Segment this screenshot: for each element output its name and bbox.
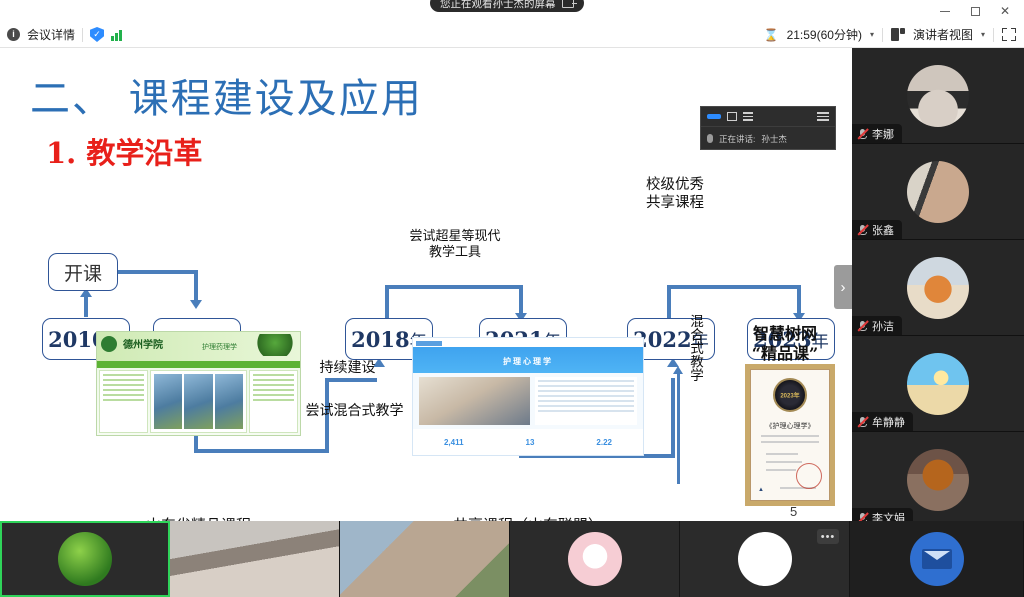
- participant-tile-linan[interactable]: 李娜: [852, 48, 1024, 144]
- annotation-blended-vertical: 混合式教学: [684, 314, 704, 382]
- platform-cover-photo: [419, 377, 530, 425]
- page-subtitle: 1. 教学沿革: [46, 130, 202, 172]
- certificate-line-1: [761, 435, 819, 437]
- connector-kaike-right: [118, 270, 198, 274]
- site-nav-bar: [97, 361, 300, 368]
- filmstrip-tile-avatar-2[interactable]: •••: [680, 521, 850, 597]
- avatar: [568, 532, 622, 586]
- site-photo-3: [215, 374, 244, 429]
- participant-video-rail[interactable]: 李娜 张鑫 孙洁: [852, 48, 1024, 521]
- floating-panel-top-row: [701, 107, 835, 126]
- certificate-line-2: [761, 441, 819, 443]
- close-button[interactable]: ✕: [990, 0, 1020, 22]
- site-logo-icon: [101, 336, 117, 352]
- site-photo-2: [184, 374, 213, 429]
- participant-name-badge: 张鑫: [852, 220, 902, 239]
- connector-blended-vertical: [677, 374, 680, 484]
- microphone-muted-icon: [857, 320, 868, 332]
- filmstrip-tile-video-2[interactable]: [340, 521, 510, 597]
- annotation-continuous-build-text: 持续建设: [320, 360, 376, 376]
- certificate-seal-icon: 2023年: [773, 378, 807, 412]
- annotation-zhihuishu-line2: “精品课”: [752, 344, 818, 363]
- toolbar-divider: [82, 28, 83, 42]
- certificate-line-5: [766, 469, 796, 471]
- microphone-icon: [707, 134, 713, 143]
- platform-course-info: [535, 377, 637, 425]
- screen-share-tooltip-text: 您正在观看孙士杰的屏幕: [440, 0, 556, 11]
- avatar: [907, 449, 969, 511]
- connector-2022-up: [671, 378, 675, 458]
- platform-stats: 2,411 13 2.22: [413, 429, 643, 455]
- speaking-name: 孙士杰: [761, 133, 787, 145]
- connector-2022-upbracket: [667, 285, 671, 321]
- share-screen-icon: [562, 0, 574, 8]
- site-photo-1: [154, 374, 183, 429]
- image-zhihuishu-certificate: 2023年 《护理心理学》 ▲: [745, 364, 835, 506]
- platform-banner-title: 护理心理学: [503, 356, 553, 367]
- certificate-course-name: 《护理心理学》: [750, 421, 830, 431]
- toolbar-left-group: i 会议详情 ✓: [0, 26, 122, 43]
- filmstrip-tile-sharing[interactable]: [0, 521, 170, 597]
- site-subtitle: 护理药理学: [202, 342, 237, 352]
- site-left-column: [99, 370, 148, 433]
- participant-name: 牟静静: [872, 414, 905, 430]
- annotation-tool-trial-line2: 教学工具: [429, 245, 481, 260]
- platform-stat-3: 2.22: [596, 438, 612, 447]
- node-2018-year: 2018: [351, 327, 409, 352]
- network-signal-icon[interactable]: [111, 29, 122, 41]
- zoom-meeting-window: 您正在观看孙士杰的屏幕 ✕ i 会议详情 ✓ ⌛ 21:59(60分钟) ▾ 演…: [0, 0, 1024, 597]
- speaking-label: 正在讲话:: [719, 133, 755, 145]
- participant-tile-sunjie[interactable]: 孙洁: [852, 240, 1024, 336]
- participant-name: 孙洁: [872, 318, 894, 334]
- more-options-icon[interactable]: •••: [817, 529, 839, 544]
- meeting-info-label[interactable]: 会议详情: [27, 26, 75, 43]
- connector-2010-up: [84, 295, 88, 317]
- participant-name-badge: 牟静静: [852, 412, 913, 431]
- page-title: 二、 课程建设及应用: [30, 66, 423, 124]
- maximize-button[interactable]: [960, 0, 990, 22]
- floating-panel-speaking-row: 正在讲话: 孙士杰: [701, 126, 835, 150]
- certificate-seal-text: 2023年: [780, 391, 799, 400]
- site-photo-column: [150, 370, 248, 433]
- annotation-blended-try-text: 尝试混合式教学: [306, 403, 404, 419]
- fullscreen-icon[interactable]: [1002, 28, 1016, 41]
- connector-to-2018-right: [325, 378, 377, 382]
- participant-name-badge: 李娜: [852, 124, 902, 143]
- floating-share-panel[interactable]: 正在讲话: 孙士杰: [700, 106, 836, 150]
- avatar: [907, 65, 969, 127]
- microphone-muted-icon: [857, 416, 868, 428]
- connector-kaike-down: [194, 270, 198, 302]
- participant-name: 张鑫: [872, 222, 894, 238]
- avatar: [907, 257, 969, 319]
- screen-share-tooltip: 您正在观看孙士杰的屏幕: [430, 0, 584, 12]
- collapse-glyph: ›: [841, 279, 846, 296]
- annotation-school-award: 校级优秀 共享课程: [615, 176, 735, 212]
- view-mode-label[interactable]: 演讲者视图: [913, 26, 973, 43]
- connector-blended-right: [194, 449, 329, 453]
- tree-decoration-icon: [254, 334, 296, 356]
- toolbar-divider-2: [882, 28, 883, 42]
- certificate-line-4: [766, 461, 802, 463]
- shared-screen-stage: 二、 课程建设及应用 1. 教学沿革: [0, 48, 852, 521]
- annotation-school-award-line2: 共享课程: [646, 195, 704, 211]
- platform-stat-1: 2,411: [444, 438, 464, 447]
- annotation-continuous-build: 持续建设: [300, 360, 395, 378]
- video-feed: [340, 521, 509, 597]
- panel-menu-icon[interactable]: [817, 112, 829, 121]
- platform-stat-2: 13: [526, 438, 535, 447]
- meeting-timer: 21:59(60分钟): [787, 26, 862, 43]
- arrowhead-2012-down: [190, 300, 202, 309]
- view-chevron-down-icon[interactable]: ▾: [981, 30, 985, 39]
- speaker-view-icon[interactable]: [891, 28, 905, 41]
- participant-tile-moujingjing[interactable]: 牟静静: [852, 336, 1024, 432]
- site-title: 德州学院: [123, 336, 163, 351]
- toolbar-divider-3: [993, 28, 994, 42]
- connector-2018-2021-top: [385, 285, 523, 289]
- info-icon[interactable]: i: [7, 28, 20, 41]
- panel-list-icon[interactable]: [743, 112, 753, 121]
- certificate-brand-logo: ▲: [758, 487, 764, 493]
- connector-2023-down: [797, 285, 801, 315]
- annotation-school-award-line1: 校级优秀: [646, 177, 704, 193]
- site-right-column: [249, 370, 298, 433]
- filmstrip-tile-avatar-1[interactable]: [510, 521, 680, 597]
- platform-banner: 护理心理学: [413, 347, 643, 373]
- panel-window-icon[interactable]: [727, 112, 737, 121]
- avatar: [907, 161, 969, 223]
- avatar: [907, 353, 969, 415]
- hourglass-icon: ⌛: [764, 28, 779, 42]
- window-controls: ✕: [930, 0, 1020, 22]
- participant-name: 李娜: [872, 126, 894, 142]
- node-kaike-label: 开课: [64, 259, 102, 286]
- platform-topbar: [413, 338, 643, 347]
- panel-pill-icon[interactable]: [707, 114, 721, 119]
- annotation-zhihuishu: 智慧树网 “精品课”: [730, 324, 840, 364]
- annotation-blended-try: 尝试混合式教学: [292, 403, 417, 421]
- annotation-zhihuishu-line1: 智慧树网: [753, 324, 817, 343]
- annotation-tool-trial-line1: 尝试超星等现代: [409, 229, 500, 244]
- timer-chevron-down-icon[interactable]: ▾: [870, 30, 874, 39]
- minimize-button[interactable]: [930, 0, 960, 22]
- encryption-shield-icon[interactable]: ✓: [90, 27, 104, 42]
- toolbar-right-group: ⌛ 21:59(60分钟) ▾ 演讲者视图 ▾: [764, 26, 1024, 43]
- video-feed: [170, 521, 339, 597]
- participant-name-badge: 孙洁: [852, 316, 902, 335]
- connector-2021-down: [519, 285, 523, 315]
- meeting-toolbar: i 会议详情 ✓ ⌛ 21:59(60分钟) ▾ 演讲者视图 ▾: [0, 22, 1024, 48]
- filmstrip-tile-video-1[interactable]: [170, 521, 340, 597]
- connector-2018-up: [385, 285, 389, 321]
- platform-main: [413, 373, 643, 429]
- certificate-stamp-icon: [796, 463, 822, 489]
- annotation-blended-vertical-text: 混合式教学: [687, 314, 703, 382]
- bottom-video-filmstrip[interactable]: •••: [0, 521, 1024, 597]
- certificate-line-3: [766, 453, 798, 455]
- participant-tile-liwenjuan[interactable]: 李文娟: [852, 432, 1024, 528]
- avatar: [910, 532, 964, 586]
- avatar: [58, 532, 112, 586]
- node-kaike[interactable]: 开课: [48, 253, 118, 291]
- connector-2022-2023-top: [667, 285, 801, 289]
- annotation-tool-trial: 尝试超星等现代 教学工具: [380, 229, 530, 262]
- site-body: [97, 368, 300, 435]
- collapse-panel-chevron-right-icon[interactable]: ›: [834, 265, 852, 309]
- avatar: [738, 532, 792, 586]
- arrowhead-blended-up: [673, 366, 683, 374]
- filmstrip-tile-mail[interactable]: [850, 521, 1024, 597]
- image-shared-course-platform: 护理心理学 2,411 13 2.22: [412, 337, 644, 456]
- image-shandong-quality-course: 德州学院 护理药理学: [96, 331, 301, 436]
- slide-page-number: 5: [790, 504, 797, 519]
- window-title-bar: 您正在观看孙士杰的屏幕 ✕: [0, 0, 1024, 22]
- site-header: 德州学院 护理药理学: [97, 332, 300, 361]
- microphone-muted-icon: [857, 224, 868, 236]
- participant-tile-zhangxin[interactable]: 张鑫: [852, 144, 1024, 240]
- microphone-muted-icon: [857, 128, 868, 140]
